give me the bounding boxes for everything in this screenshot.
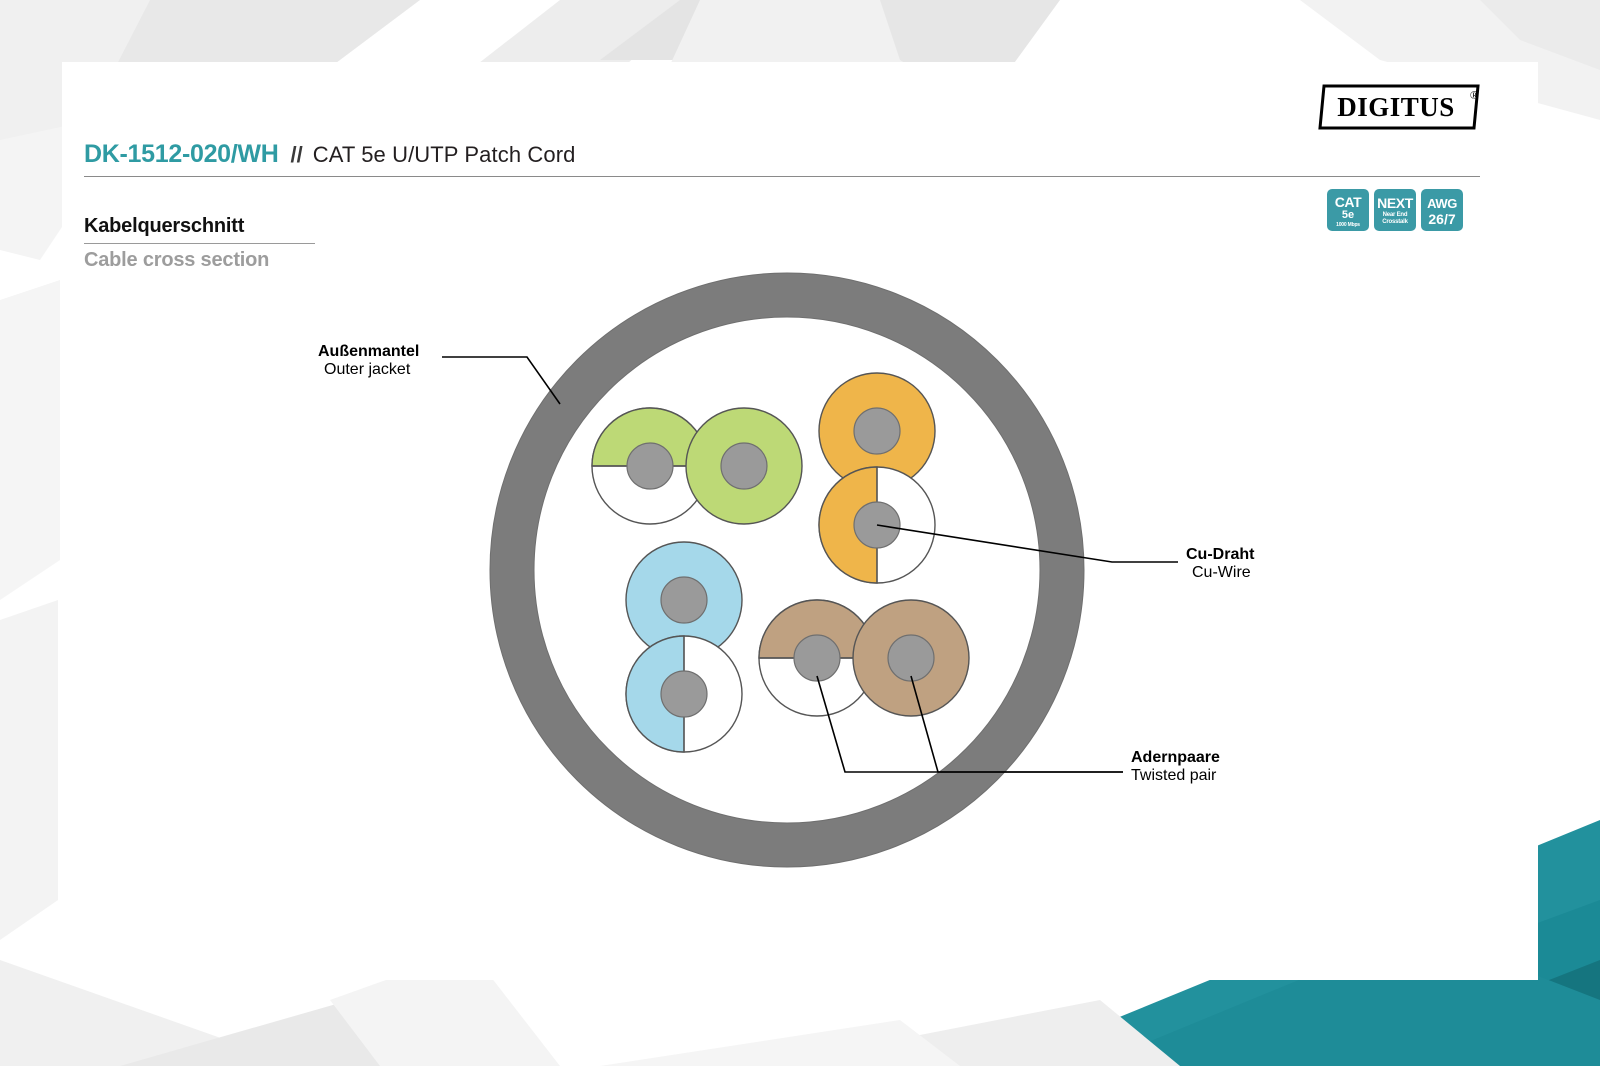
copper-conductor-core	[888, 635, 934, 681]
cable-cross-section-diagram	[62, 62, 1538, 980]
blue-pair-wire-2	[626, 636, 742, 752]
copper-conductor-core	[627, 443, 673, 489]
callout-cu-wire-de: Cu-Draht	[1186, 546, 1254, 564]
callout-twisted-pair: Adernpaare Twisted pair	[1131, 749, 1220, 785]
copper-conductor-core	[854, 408, 900, 454]
outer-jacket-ring	[490, 273, 1084, 867]
callout-cu-wire: Cu-Draht Cu-Wire	[1186, 546, 1254, 582]
callout-outer-jacket-de: Außenmantel	[318, 343, 419, 361]
green-pair-wire-2	[686, 408, 802, 524]
copper-conductor-core	[661, 577, 707, 623]
callout-twisted-pair-en: Twisted pair	[1131, 767, 1220, 785]
copper-conductor-core	[721, 443, 767, 489]
callout-outer-jacket-en: Outer jacket	[324, 361, 419, 379]
copper-conductor-core	[661, 671, 707, 717]
callout-cu-wire-en: Cu-Wire	[1192, 564, 1254, 582]
leader-outer-jacket	[442, 357, 560, 404]
callout-outer-jacket: Außenmantel Outer jacket	[318, 343, 419, 379]
brown-pair-wire-2	[853, 600, 969, 716]
copper-conductor-core	[794, 635, 840, 681]
callout-twisted-pair-de: Adernpaare	[1131, 749, 1220, 767]
